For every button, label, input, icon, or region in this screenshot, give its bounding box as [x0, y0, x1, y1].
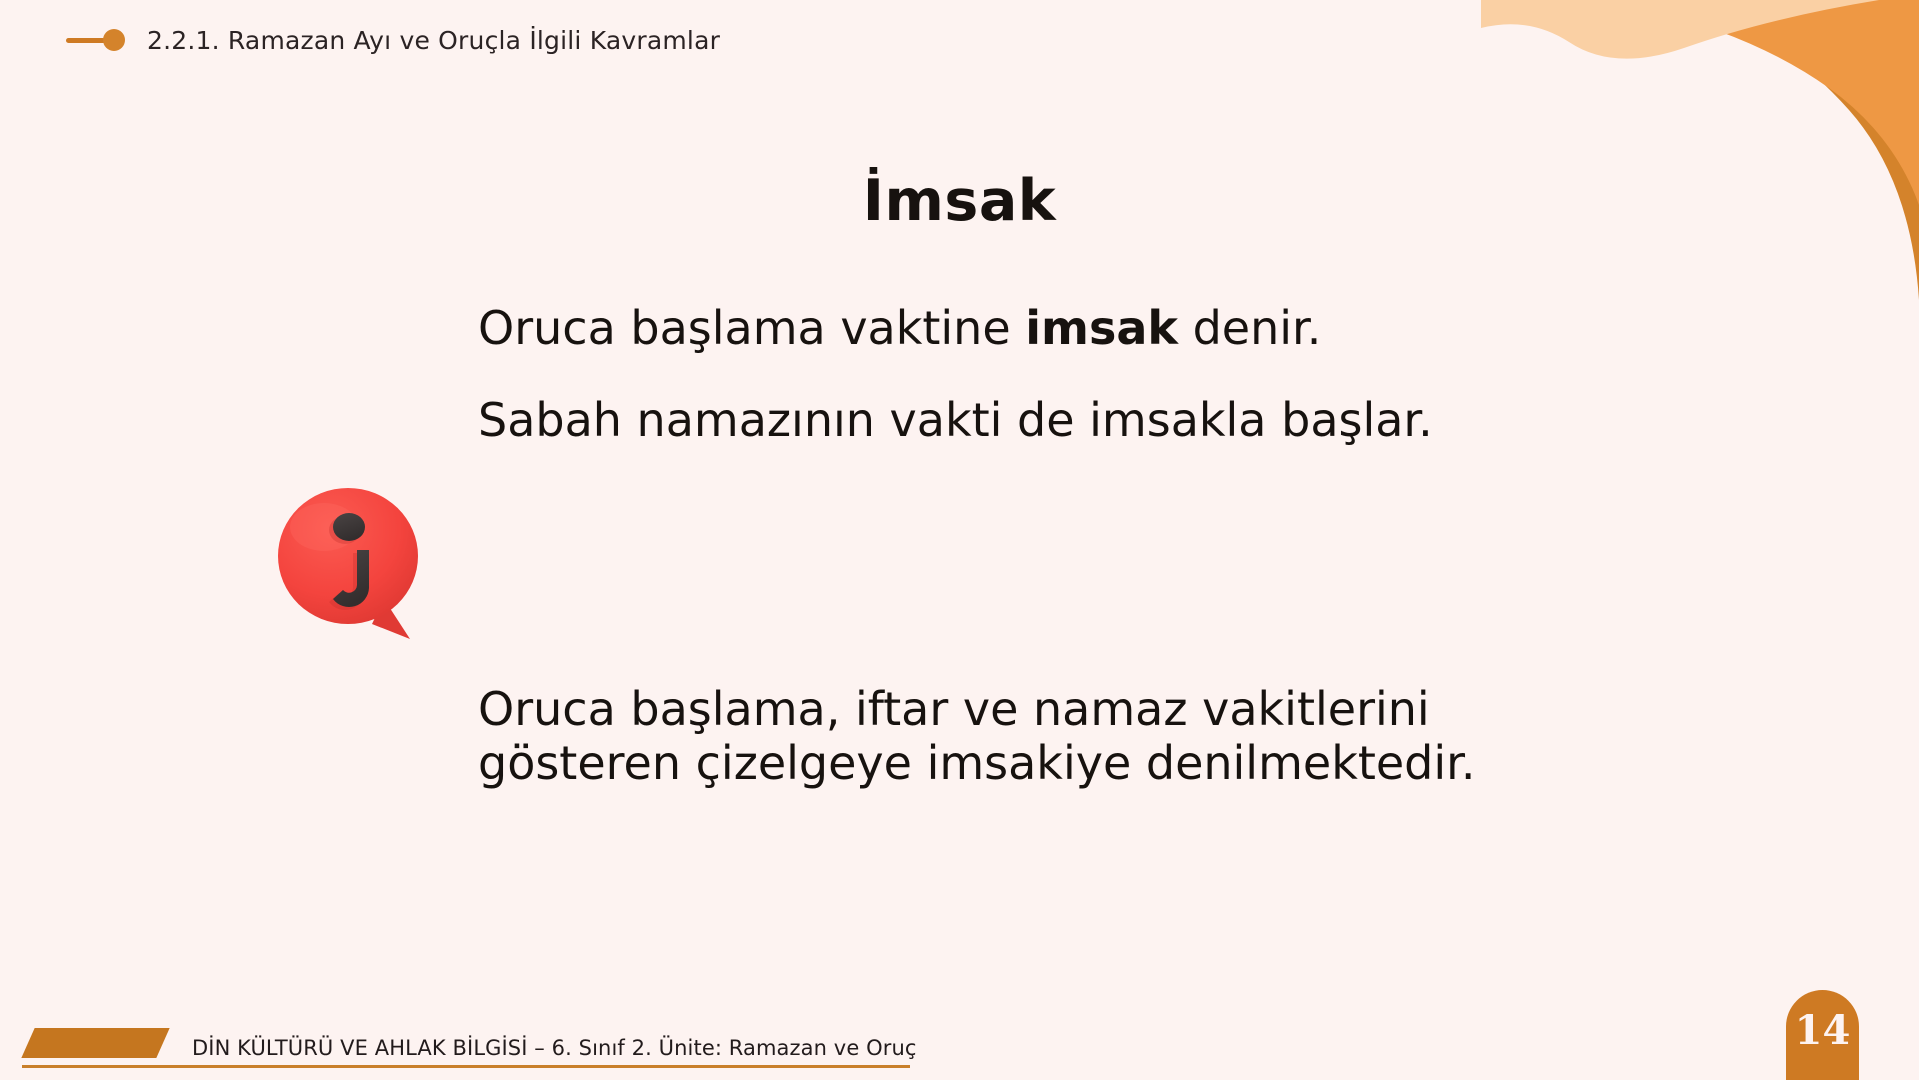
info-dot: [333, 513, 365, 541]
wave-light-shape: [1481, 0, 1879, 59]
info-paragraph: Oruca başlama, iftar ve namaz vakitlerin…: [478, 682, 1538, 791]
body-line-2: Sabah namazının vakti de imsakla başlar.: [478, 397, 1538, 443]
body-line-1-bold: imsak: [1025, 301, 1178, 355]
breadcrumb-line-icon: [66, 38, 106, 43]
breadcrumb-dot-icon: [103, 29, 125, 51]
info-paragraph-line-1: Oruca başlama, iftar ve namaz vakitlerin…: [478, 682, 1538, 736]
corner-wave-decoration: [1449, 0, 1919, 300]
body-text-block: Oruca başlama vaktine imsak denir. Sabah…: [478, 305, 1538, 489]
page-number-label: 14: [1795, 1011, 1851, 1051]
body-line-1-prefix: Oruca başlama vaktine: [478, 301, 1025, 355]
footer-accent-shape: [21, 1028, 169, 1058]
wave-dark-shape: [1689, 0, 1919, 300]
footer-label: DİN KÜLTÜRÜ VE AHLAK BİLGİSİ – 6. Sınıf …: [192, 1036, 917, 1060]
info-speech-bubble-icon: [276, 487, 434, 652]
slide-canvas: 2.2.1. Ramazan Ayı ve Oruçla İlgili Kavr…: [0, 0, 1919, 1080]
body-line-1: Oruca başlama vaktine imsak denir.: [478, 305, 1538, 351]
page-title: İmsak: [0, 168, 1919, 234]
page-number-badge: 14: [1786, 990, 1859, 1080]
breadcrumb-label: 2.2.1. Ramazan Ayı ve Oruçla İlgili Kavr…: [147, 26, 720, 55]
footer-divider: [22, 1065, 910, 1068]
body-line-1-suffix: denir.: [1178, 301, 1321, 355]
info-paragraph-line-2: gösteren çizelgeye imsakiye denilmektedi…: [478, 736, 1538, 790]
breadcrumb: 2.2.1. Ramazan Ayı ve Oruçla İlgili Kavr…: [66, 20, 720, 60]
